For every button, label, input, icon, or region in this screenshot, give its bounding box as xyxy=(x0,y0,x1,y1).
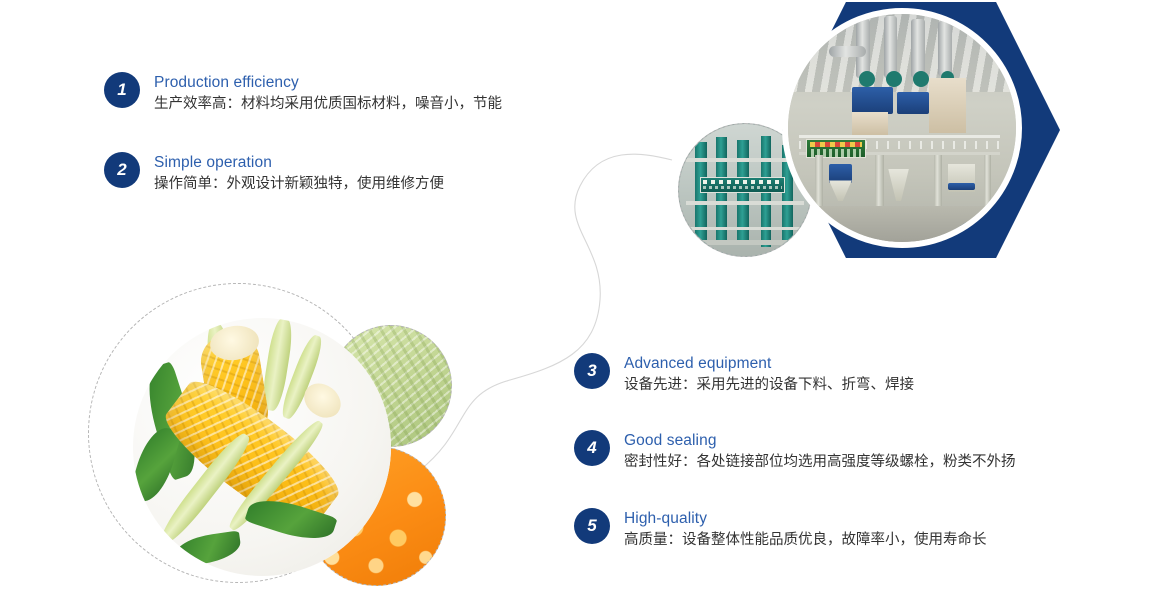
feature-item-5[interactable]: 5 High-quality 高质量：设备整体性能品质优良，故障率小，使用寿命长 xyxy=(574,508,987,551)
feature-title: Advanced equipment xyxy=(624,354,914,373)
feature-description: 设备先进：采用先进的设备下料、折弯、焊接 xyxy=(624,375,914,396)
feature-item-1[interactable]: 1 Production efficiency 生产效率高：材料均采用优质国标材… xyxy=(104,72,502,115)
feature-title: Production efficiency xyxy=(154,73,502,92)
feature-text-block: Good sealing 密封性好：各处链接部位均选用高强度等级螺栓，粉类不外扬 xyxy=(624,430,1016,473)
feature-text-block: Advanced equipment 设备先进：采用先进的设备下料、折弯、焊接 xyxy=(624,353,914,396)
feature-description: 操作简单：外观设计新颖独特，使用维修方便 xyxy=(154,174,444,195)
feature-text-block: Simple operation 操作简单：外观设计新颖独特，使用维修方便 xyxy=(154,152,444,195)
fresh-corn-cobs-photo xyxy=(133,318,391,576)
feature-item-2[interactable]: 2 Simple operation 操作简单：外观设计新颖独特，使用维修方便 xyxy=(104,152,444,195)
feature-number-badge: 3 xyxy=(574,353,610,389)
feature-title: High-quality xyxy=(624,509,987,528)
feature-text-block: Production efficiency 生产效率高：材料均采用优质国标材料，… xyxy=(154,72,502,115)
feature-text-block: High-quality 高质量：设备整体性能品质优良，故障率小，使用寿命长 xyxy=(624,508,987,551)
feature-title: Good sealing xyxy=(624,431,1016,450)
feature-item-3[interactable]: 3 Advanced equipment 设备先进：采用先进的设备下料、折弯、焊… xyxy=(574,353,914,396)
feature-title: Simple operation xyxy=(154,153,444,172)
feature-number-badge: 2 xyxy=(104,152,140,188)
feature-item-4[interactable]: 4 Good sealing 密封性好：各处链接部位均选用高强度等级螺栓，粉类不… xyxy=(574,430,1016,473)
flour-milling-plant-photo xyxy=(782,8,1022,248)
feature-description: 生产效率高：材料均采用优质国标材料，噪音小，节能 xyxy=(154,94,502,115)
feature-number-badge: 5 xyxy=(574,508,610,544)
feature-number-badge: 1 xyxy=(104,72,140,108)
infographic-canvas: 1 Production efficiency 生产效率高：材料均采用优质国标材… xyxy=(0,0,1154,591)
feature-number-badge: 4 xyxy=(574,430,610,466)
feature-description: 密封性好：各处链接部位均选用高强度等级螺栓，粉类不外扬 xyxy=(624,452,1016,473)
flour-mill-illustration xyxy=(788,14,1016,242)
feature-description: 高质量：设备整体性能品质优良，故障率小，使用寿命长 xyxy=(624,530,987,551)
